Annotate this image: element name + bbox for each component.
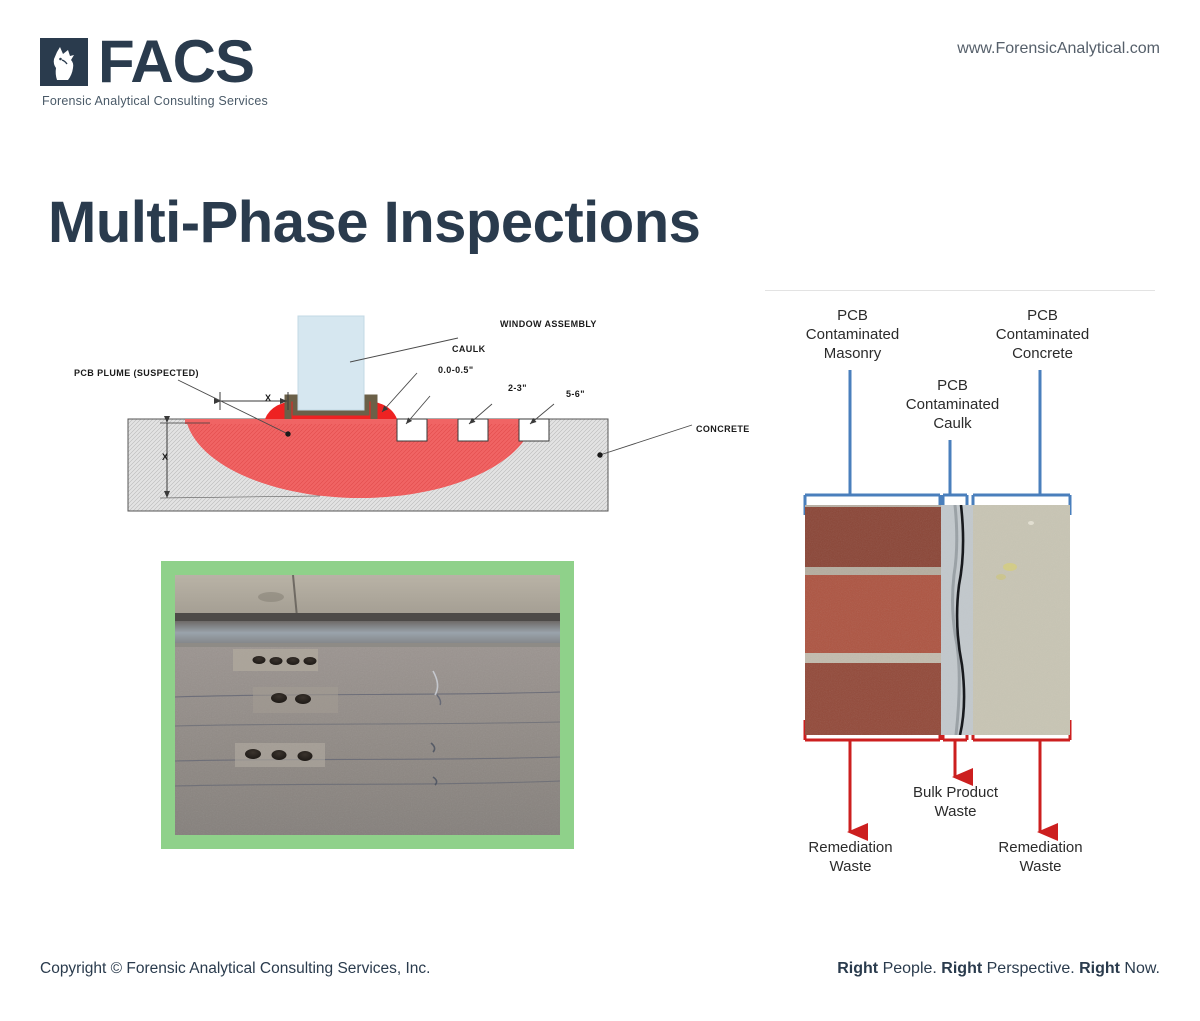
label-pcb-masonry-l1: PCB xyxy=(837,307,868,324)
label-remediation-waste-left-l1: Remediation xyxy=(808,839,892,856)
waste-stream-diagram: PCB Contaminated Masonry PCB Contaminate… xyxy=(745,290,1165,890)
label-bulk-product-waste: Bulk Product Waste xyxy=(868,783,1043,821)
label-pcb-concrete-l2: Contaminated xyxy=(996,326,1089,343)
label-pcb-caulk-l3: Caulk xyxy=(933,415,971,432)
slide-root: FACS Forensic Analytical Consulting Serv… xyxy=(0,0,1200,1021)
label-remediation-waste-right-l1: Remediation xyxy=(998,839,1082,856)
label-remediation-waste-right-l2: Waste xyxy=(1020,858,1062,875)
label-concrete: CONCRETE xyxy=(696,424,750,434)
page-title: Multi-Phase Inspections xyxy=(48,192,700,254)
tagline-normal-2: Perspective. xyxy=(982,960,1074,977)
label-window-assembly: WINDOW ASSEMBLY xyxy=(500,319,597,329)
core-sample-photo-frame xyxy=(161,561,574,849)
pcb-plume-diagram: PCB PLUME (SUSPECTED) WINDOW ASSEMBLY CA… xyxy=(60,300,740,530)
label-pcb-caulk: PCB Contaminated Caulk xyxy=(865,376,1040,433)
label-bulk-product-waste-l2: Waste xyxy=(935,803,977,820)
website-url[interactable]: www.ForensicAnalytical.com xyxy=(957,40,1160,58)
label-depth-2: 2-3" xyxy=(508,383,527,393)
label-pcb-masonry-l2: Contaminated xyxy=(806,326,899,343)
label-caulk: CAULK xyxy=(452,344,486,354)
label-pcb-caulk-l1: PCB xyxy=(937,377,968,394)
label-pcb-concrete-l3: Concrete xyxy=(1012,345,1073,362)
tagline-normal-1: People. xyxy=(878,960,937,977)
label-pcb-plume: PCB PLUME (SUSPECTED) xyxy=(74,368,199,378)
divider-line xyxy=(765,290,1155,291)
label-pcb-caulk-l2: Contaminated xyxy=(906,396,999,413)
dog-head-icon xyxy=(40,38,88,86)
label-bulk-product-waste-l1: Bulk Product xyxy=(913,784,998,801)
tagline-bold-1: Right xyxy=(837,960,878,977)
facs-logo: FACS Forensic Analytical Consulting Serv… xyxy=(40,38,340,108)
tagline-bold-3: Right xyxy=(1079,960,1120,977)
label-pcb-concrete: PCB Contaminated Concrete xyxy=(955,306,1130,363)
label-pcb-masonry: PCB Contaminated Masonry xyxy=(765,306,940,363)
label-depth-3: 5-6" xyxy=(566,389,585,399)
logo-wordmark: FACS xyxy=(98,32,254,92)
label-pcb-masonry-l3: Masonry xyxy=(824,345,882,362)
brand-tagline: Right People. Right Perspective. Right N… xyxy=(837,960,1160,978)
label-depth-1: 0.0-0.5" xyxy=(438,365,474,375)
tagline-bold-2: Right xyxy=(941,960,982,977)
pcb-plume-svg xyxy=(60,300,740,530)
label-remediation-waste-left-l2: Waste xyxy=(830,858,872,875)
label-remediation-waste-left: Remediation Waste xyxy=(763,838,938,876)
label-remediation-waste-right: Remediation Waste xyxy=(953,838,1128,876)
brick-caulk-concrete-photo xyxy=(805,505,1070,735)
logo-tagline: Forensic Analytical Consulting Services xyxy=(42,94,268,108)
copyright-text: Copyright © Forensic Analytical Consulti… xyxy=(40,960,430,978)
label-dim-horizontal: X xyxy=(265,393,271,403)
tagline-normal-3: Now. xyxy=(1120,960,1160,977)
core-sample-photo xyxy=(175,575,560,835)
label-pcb-concrete-l1: PCB xyxy=(1027,307,1058,324)
label-dim-vertical: X xyxy=(162,452,168,462)
